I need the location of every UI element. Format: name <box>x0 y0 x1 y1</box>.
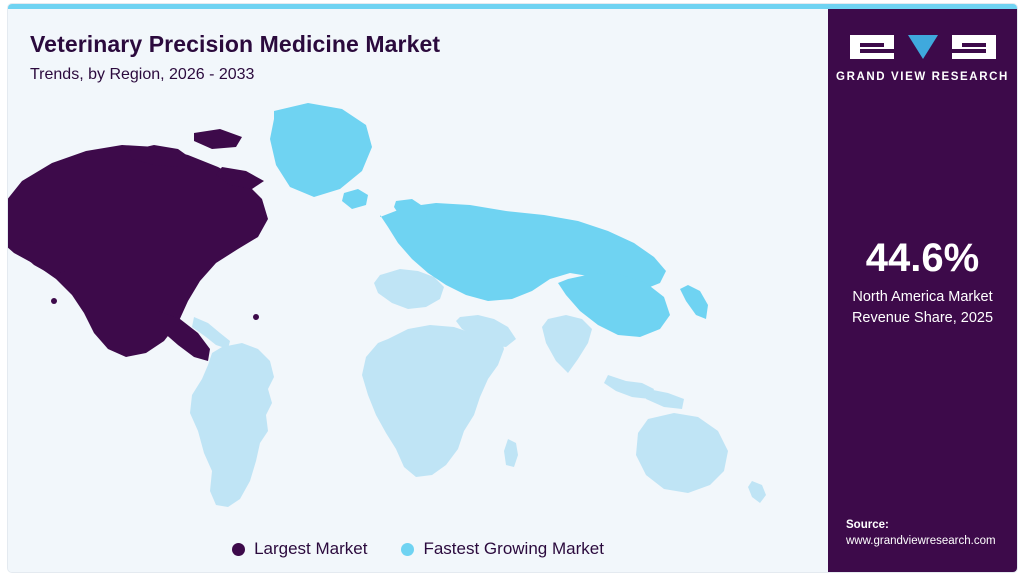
grand-view-research-logo-icon <box>848 31 998 65</box>
legend-item-label: Fastest Growing Market <box>423 539 603 559</box>
map-region-other <box>190 269 766 507</box>
source-block: Source: www.grandviewresearch.com <box>846 517 1016 550</box>
legend-item-largest: Largest Market <box>232 539 367 559</box>
brand-name: GRAND VIEW RESEARCH <box>828 71 1017 83</box>
infographic-card: Veterinary Precision Medicine Market Tre… <box>8 4 1017 572</box>
map-region-largest-market <box>8 129 268 361</box>
dot-icon <box>232 543 245 556</box>
legend: Largest Market Fastest Growing Market <box>8 529 828 569</box>
dot-icon <box>401 543 414 556</box>
page-subtitle: Trends, by Region, 2026 - 2033 <box>30 66 254 84</box>
map-region-fastest-growing <box>270 103 708 337</box>
source-title: Source: <box>846 517 1016 534</box>
stats-panel: GRAND VIEW RESEARCH 44.6% North America … <box>828 9 1017 572</box>
stat-label: North America Market Revenue Share, 2025 <box>828 287 1017 329</box>
stat-label-line1: North America Market <box>828 287 1017 308</box>
stat-block: 44.6% North America Market Revenue Share… <box>828 237 1017 329</box>
stat-value: 44.6% <box>828 237 1017 279</box>
world-map <box>8 89 828 509</box>
stat-label-line2: Revenue Share, 2025 <box>828 308 1017 329</box>
page-title: Veterinary Precision Medicine Market <box>30 31 440 58</box>
map-panel: Veterinary Precision Medicine Market Tre… <box>8 9 828 572</box>
source-url[interactable]: www.grandviewresearch.com <box>846 533 1016 550</box>
legend-item-label: Largest Market <box>254 539 367 559</box>
brand-logo: GRAND VIEW RESEARCH <box>828 31 1017 83</box>
legend-item-fastest: Fastest Growing Market <box>401 539 603 559</box>
